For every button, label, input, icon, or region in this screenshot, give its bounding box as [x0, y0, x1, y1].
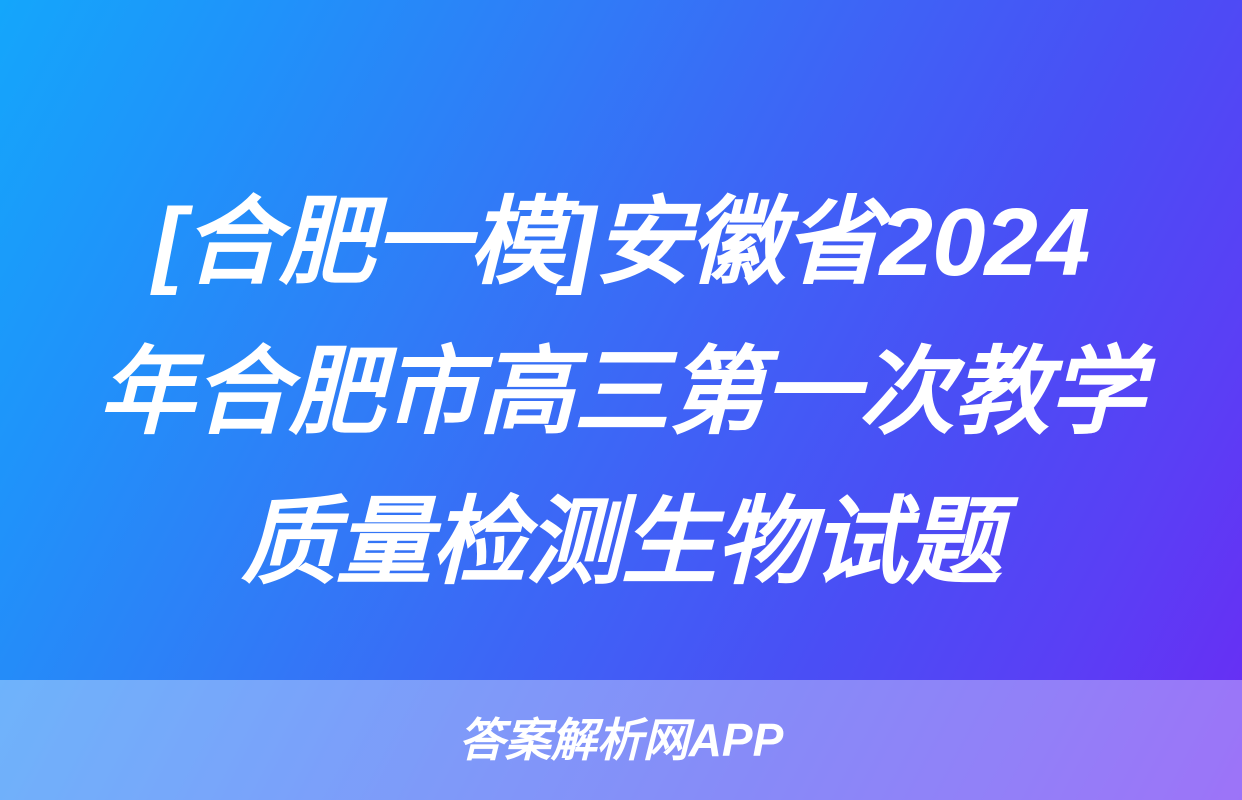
title-line-3: 质量检测生物试题 [50, 468, 1192, 618]
app-watermark-label: 答案解析网APP [459, 717, 784, 763]
page-title: [合肥一模]安徽省2024 年合肥市高三第一次教学 质量检测生物试题 [50, 168, 1192, 618]
title-line-1: [合肥一模]安徽省2024 [50, 168, 1192, 318]
title-line-2: 年合肥市高三第一次教学 [50, 318, 1192, 468]
footer-watermark-band: 答案解析网APP [0, 680, 1242, 800]
exam-cover-card: [合肥一模]安徽省2024 年合肥市高三第一次教学 质量检测生物试题 答案解析网… [0, 0, 1242, 800]
